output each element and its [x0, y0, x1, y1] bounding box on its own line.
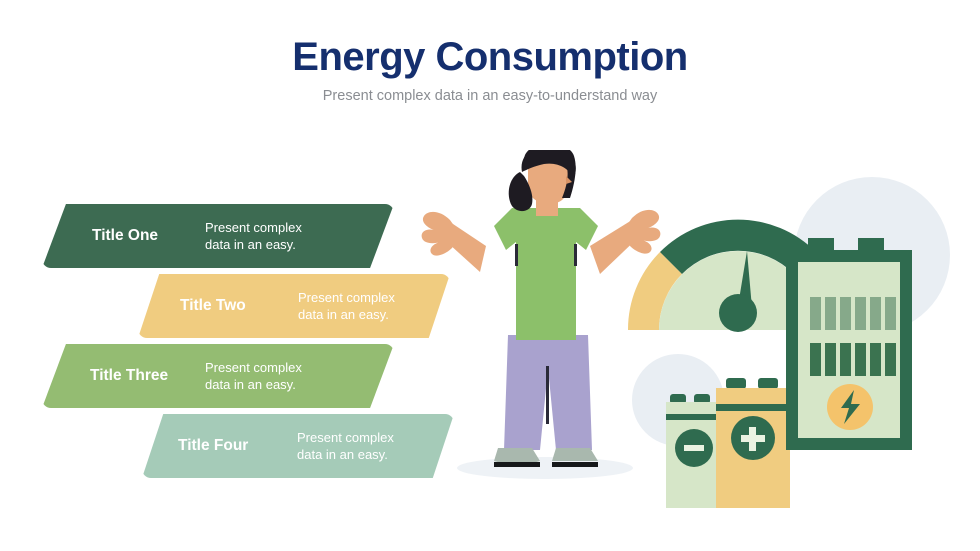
shirt-seam-right: [574, 244, 577, 266]
banner-text-one: Title One Present complex data in an eas…: [42, 204, 394, 268]
banner-row-one[interactable]: Title One Present complex data in an eas…: [42, 204, 394, 268]
slide-root: Energy Consumption Present complex data …: [0, 0, 980, 551]
energy-consumption-illustration: [420, 150, 980, 510]
battery-negative-band: [666, 414, 722, 420]
banner-description-one: Present complex data in an easy.: [205, 219, 302, 253]
banner-row-two[interactable]: Title Two Present complex data in an eas…: [138, 274, 450, 338]
header: Energy Consumption Present complex data …: [0, 36, 980, 104]
banner-description-three: Present complex data in an easy.: [205, 359, 302, 393]
banner-title-one: Title One: [92, 227, 158, 245]
battery-positive: [716, 378, 790, 508]
page-subtitle: Present complex data in an easy-to-under…: [0, 88, 980, 104]
page-title: Energy Consumption: [0, 36, 980, 78]
shirt: [494, 208, 598, 340]
battery-negative: [666, 394, 722, 508]
banner-title-three: Title Three: [90, 367, 168, 385]
banner-description-two: Present complex data in an easy.: [298, 289, 395, 323]
shoe-right: [552, 448, 598, 467]
banner-text-four: Title Four Present complex data in an ea…: [142, 414, 454, 478]
shirt-seam-left: [515, 244, 518, 266]
gauge-hub: [719, 294, 757, 332]
banner-text-two: Title Two Present complex data in an eas…: [138, 274, 450, 338]
battery-level-panel: [786, 238, 912, 450]
pants-crease: [546, 366, 549, 424]
shoe-left: [494, 448, 540, 467]
banner-title-two: Title Two: [180, 297, 246, 315]
person-arms-outstretched: [422, 150, 661, 479]
floor-shadow: [457, 457, 633, 479]
plus-icon-v: [749, 427, 756, 451]
hand-left: [422, 212, 460, 256]
minus-icon: [684, 445, 704, 451]
battery-positive-band: [716, 404, 790, 411]
banner-row-four[interactable]: Title Four Present complex data in an ea…: [142, 414, 454, 478]
banner-description-four: Present complex data in an easy.: [297, 429, 394, 463]
banner-title-four: Title Four: [178, 437, 248, 455]
banner-text-three: Title Three Present complex data in an e…: [42, 344, 394, 408]
banner-row-three[interactable]: Title Three Present complex data in an e…: [42, 344, 394, 408]
